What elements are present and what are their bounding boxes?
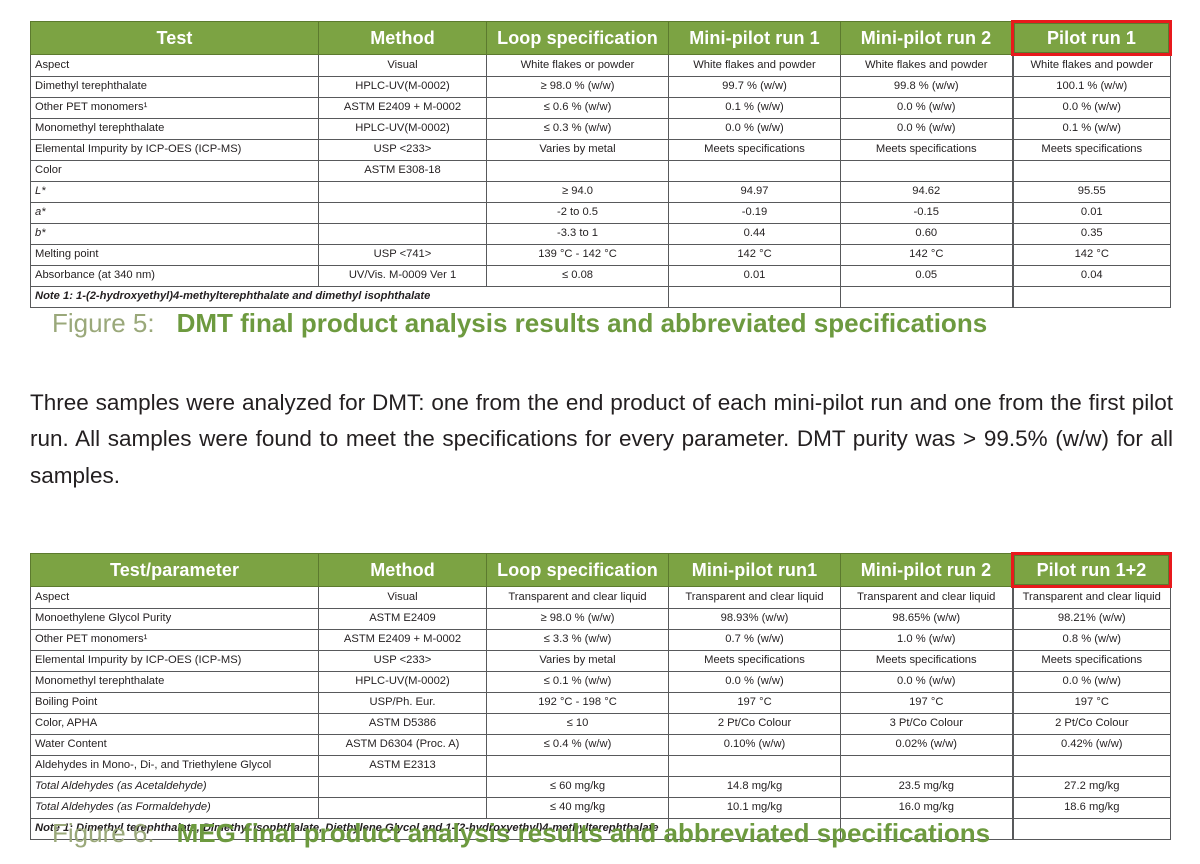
cell-mp2: Meets specifications [841,651,1013,672]
row-label: Color [31,161,319,182]
table-row: Monomethyl terephthalateHPLC-UV(M-0002)≤… [31,672,1171,693]
table-header-row: Test/parameterMethodLoop specificationMi… [31,554,1171,587]
cell-p1: Meets specifications [1013,140,1171,161]
cell-spec: 192 °C - 198 °C [487,693,669,714]
table-note-spacer [841,287,1013,308]
cell-mp2: White flakes and powder [841,55,1013,77]
cell-spec: -2 to 0.5 [487,203,669,224]
cell-p1: 2 Pt/Co Colour [1013,714,1171,735]
cell-mp1 [669,161,841,182]
row-label: Elemental Impurity by ICP-OES (ICP-MS) [31,140,319,161]
row-label: Color, APHA [31,714,319,735]
column-header-test-parameter: Test/parameter [31,554,319,587]
figure-6-number: Figure 6: [52,818,155,848]
column-header-mini-pilot-run1: Mini-pilot run1 [669,554,841,587]
cell-method: ASTM E2409 + M-0002 [319,98,487,119]
cell-method: USP <233> [319,140,487,161]
figure-5-title: DMT final product analysis results and a… [177,308,988,338]
cell-mp1: 0.7 % (w/w) [669,630,841,651]
cell-method [319,798,487,819]
cell-spec: -3.3 to 1 [487,224,669,245]
cell-method: Visual [319,55,487,77]
row-label: Aspect [31,587,319,609]
table-row: AspectVisualTransparent and clear liquid… [31,587,1171,609]
cell-mp1: White flakes and powder [669,55,841,77]
cell-spec [487,756,669,777]
table-row: ColorASTM E308-18 [31,161,1171,182]
cell-mp2: 0.0 % (w/w) [841,98,1013,119]
cell-mp1: Transparent and clear liquid [669,587,841,609]
row-label: L* [31,182,319,203]
cell-spec: ≥ 98.0 % (w/w) [487,609,669,630]
cell-mp1: 142 °C [669,245,841,266]
cell-mp1: 10.1 mg/kg [669,798,841,819]
table-row: b*-3.3 to 10.440.600.35 [31,224,1171,245]
row-label: Other PET monomers¹ [31,98,319,119]
cell-mp2: 1.0 % (w/w) [841,630,1013,651]
cell-p1: 0.1 % (w/w) [1013,119,1171,140]
table-note-spacer [1013,819,1171,840]
cell-p1: 0.01 [1013,203,1171,224]
row-label: Dimethyl terephthalate [31,77,319,98]
cell-p1: Transparent and clear liquid [1013,587,1171,609]
table-row: Monomethyl terephthalateHPLC-UV(M-0002)≤… [31,119,1171,140]
cell-mp2: 23.5 mg/kg [841,777,1013,798]
cell-mp1: -0.19 [669,203,841,224]
table-row: Elemental Impurity by ICP-OES (ICP-MS)US… [31,140,1171,161]
table-row: L*≥ 94.094.9794.6295.55 [31,182,1171,203]
meg-specification-table-container: Test/parameterMethodLoop specificationMi… [30,552,1170,840]
cell-spec: ≤ 10 [487,714,669,735]
cell-p1: Meets specifications [1013,651,1171,672]
table-row: Other PET monomers¹ASTM E2409 + M-0002≤ … [31,630,1171,651]
table-note-spacer [669,287,841,308]
cell-mp2: 142 °C [841,245,1013,266]
cell-spec: Varies by metal [487,140,669,161]
table-note-spacer [1013,287,1171,308]
row-label: Aldehydes in Mono-, Di-, and Triethylene… [31,756,319,777]
cell-mp1: 0.0 % (w/w) [669,119,841,140]
meg-specification-table: Test/parameterMethodLoop specificationMi… [30,552,1172,840]
cell-mp1: Meets specifications [669,140,841,161]
cell-spec: ≤ 0.1 % (w/w) [487,672,669,693]
cell-mp1: 0.01 [669,266,841,287]
cell-method [319,203,487,224]
column-header-pilot-run-1: Pilot run 1 [1013,22,1171,55]
table-footnote: Note 1: 1-(2-hydroxyethyl)4-methyltereph… [31,287,669,308]
cell-method: ASTM E2409 [319,609,487,630]
cell-p1: 0.8 % (w/w) [1013,630,1171,651]
cell-spec: ≥ 94.0 [487,182,669,203]
cell-method [319,182,487,203]
cell-mp1: 14.8 mg/kg [669,777,841,798]
row-label: a* [31,203,319,224]
cell-p1: White flakes and powder [1013,55,1171,77]
table-row: Absorbance (at 340 nm)UV/Vis. M-0009 Ver… [31,266,1171,287]
table-row: Boiling PointUSP/Ph. Eur.192 °C - 198 °C… [31,693,1171,714]
cell-p1: 0.0 % (w/w) [1013,98,1171,119]
table-body: AspectVisualWhite flakes or powderWhite … [31,55,1171,308]
cell-spec: Varies by metal [487,651,669,672]
column-header-mini-pilot-run-2: Mini-pilot run 2 [841,554,1013,587]
column-header-pilot-run-1-2: Pilot run 1+2 [1013,554,1171,587]
row-label: Total Aldehydes (as Formaldehyde) [31,798,319,819]
cell-spec: ≤ 60 mg/kg [487,777,669,798]
column-header-loop-specification: Loop specification [487,554,669,587]
cell-mp2: Meets specifications [841,140,1013,161]
table-row: AspectVisualWhite flakes or powderWhite … [31,55,1171,77]
figure-6-caption: Figure 6:MEG final product analysis resu… [52,818,990,849]
cell-mp1: 0.0 % (w/w) [669,672,841,693]
column-header-mini-pilot-run-2: Mini-pilot run 2 [841,22,1013,55]
cell-spec: ≥ 98.0 % (w/w) [487,77,669,98]
cell-mp1: 0.44 [669,224,841,245]
cell-mp1: 0.1 % (w/w) [669,98,841,119]
cell-p1: 142 °C [1013,245,1171,266]
cell-p1: 0.35 [1013,224,1171,245]
row-label: Melting point [31,245,319,266]
cell-mp2: 197 °C [841,693,1013,714]
row-label: Water Content [31,735,319,756]
cell-method [319,224,487,245]
cell-mp2: 99.8 % (w/w) [841,77,1013,98]
table-row: Monoethylene Glycol PurityASTM E2409≥ 98… [31,609,1171,630]
row-label: b* [31,224,319,245]
column-header-method: Method [319,22,487,55]
cell-p1: 0.04 [1013,266,1171,287]
table-row: Total Aldehydes (as Acetaldehyde)≤ 60 mg… [31,777,1171,798]
cell-mp2: 0.0 % (w/w) [841,119,1013,140]
cell-spec: ≤ 0.08 [487,266,669,287]
cell-mp1: 99.7 % (w/w) [669,77,841,98]
cell-mp2: 0.02% (w/w) [841,735,1013,756]
cell-p1: 197 °C [1013,693,1171,714]
cell-p1: 18.6 mg/kg [1013,798,1171,819]
row-label: Elemental Impurity by ICP-OES (ICP-MS) [31,651,319,672]
table-header-row: TestMethodLoop specificationMini-pilot r… [31,22,1171,55]
cell-mp1 [669,756,841,777]
cell-method [319,777,487,798]
cell-p1: 100.1 % (w/w) [1013,77,1171,98]
cell-spec: ≤ 40 mg/kg [487,798,669,819]
table-row: Other PET monomers¹ASTM E2409 + M-0002≤ … [31,98,1171,119]
table-row: Aldehydes in Mono-, Di-, and Triethylene… [31,756,1171,777]
cell-mp2: 16.0 mg/kg [841,798,1013,819]
table-row: Melting pointUSP <741>139 °C - 142 °C142… [31,245,1171,266]
cell-mp2: 94.62 [841,182,1013,203]
cell-spec: Transparent and clear liquid [487,587,669,609]
figure-5-number: Figure 5: [52,308,155,338]
cell-method: USP <741> [319,245,487,266]
column-header-mini-pilot-run-1: Mini-pilot run 1 [669,22,841,55]
row-label: Monomethyl terephthalate [31,119,319,140]
body-paragraph: Three samples were analyzed for DMT: one… [30,385,1173,494]
cell-mp1: 94.97 [669,182,841,203]
cell-method: HPLC-UV(M-0002) [319,672,487,693]
cell-p1 [1013,756,1171,777]
cell-method: UV/Vis. M-0009 Ver 1 [319,266,487,287]
cell-spec: ≤ 3.3 % (w/w) [487,630,669,651]
cell-mp2 [841,161,1013,182]
row-label: Monomethyl terephthalate [31,672,319,693]
cell-p1 [1013,161,1171,182]
cell-method: ASTM D6304 (Proc. A) [319,735,487,756]
row-label: Other PET monomers¹ [31,630,319,651]
cell-mp1: Meets specifications [669,651,841,672]
row-label: Absorbance (at 340 nm) [31,266,319,287]
column-header-test: Test [31,22,319,55]
cell-mp2: 3 Pt/Co Colour [841,714,1013,735]
cell-spec: ≤ 0.6 % (w/w) [487,98,669,119]
cell-mp2: 0.60 [841,224,1013,245]
cell-spec: White flakes or powder [487,55,669,77]
table-body: AspectVisualTransparent and clear liquid… [31,587,1171,840]
table-row: Elemental Impurity by ICP-OES (ICP-MS)US… [31,651,1171,672]
cell-mp1: 98.93% (w/w) [669,609,841,630]
cell-p1: 95.55 [1013,182,1171,203]
figure-5-caption: Figure 5:DMT final product analysis resu… [52,308,987,339]
cell-spec: 139 °C - 142 °C [487,245,669,266]
cell-mp1: 2 Pt/Co Colour [669,714,841,735]
cell-mp2 [841,756,1013,777]
cell-method: HPLC-UV(M-0002) [319,77,487,98]
table-row: Dimethyl terephthalateHPLC-UV(M-0002)≥ 9… [31,77,1171,98]
row-label: Total Aldehydes (as Acetaldehyde) [31,777,319,798]
cell-mp1: 0.10% (w/w) [669,735,841,756]
cell-method: USP <233> [319,651,487,672]
cell-p1: 0.0 % (w/w) [1013,672,1171,693]
document-page: TestMethodLoop specificationMini-pilot r… [0,0,1200,864]
column-header-method: Method [319,554,487,587]
cell-method: ASTM E2313 [319,756,487,777]
dmt-specification-table-container: TestMethodLoop specificationMini-pilot r… [30,20,1170,308]
table-row: Total Aldehydes (as Formaldehyde)≤ 40 mg… [31,798,1171,819]
cell-mp2: Transparent and clear liquid [841,587,1013,609]
cell-p1: 98.21% (w/w) [1013,609,1171,630]
cell-mp2: 0.05 [841,266,1013,287]
cell-method: USP/Ph. Eur. [319,693,487,714]
table-row: a*-2 to 0.5-0.19-0.150.01 [31,203,1171,224]
cell-p1: 0.42% (w/w) [1013,735,1171,756]
cell-p1: 27.2 mg/kg [1013,777,1171,798]
dmt-specification-table: TestMethodLoop specificationMini-pilot r… [30,20,1172,308]
table-note-row: Note 1: 1-(2-hydroxyethyl)4-methyltereph… [31,287,1171,308]
cell-method: ASTM E308-18 [319,161,487,182]
cell-spec [487,161,669,182]
cell-spec: ≤ 0.4 % (w/w) [487,735,669,756]
row-label: Aspect [31,55,319,77]
cell-method: Visual [319,587,487,609]
cell-method: HPLC-UV(M-0002) [319,119,487,140]
figure-6-title: MEG final product analysis results and a… [177,818,990,848]
row-label: Boiling Point [31,693,319,714]
cell-mp2: -0.15 [841,203,1013,224]
cell-method: ASTM D5386 [319,714,487,735]
cell-spec: ≤ 0.3 % (w/w) [487,119,669,140]
row-label: Monoethylene Glycol Purity [31,609,319,630]
table-row: Water ContentASTM D6304 (Proc. A)≤ 0.4 %… [31,735,1171,756]
cell-mp2: 0.0 % (w/w) [841,672,1013,693]
cell-method: ASTM E2409 + M-0002 [319,630,487,651]
table-row: Color, APHAASTM D5386≤ 102 Pt/Co Colour3… [31,714,1171,735]
cell-mp1: 197 °C [669,693,841,714]
column-header-loop-specification: Loop specification [487,22,669,55]
cell-mp2: 98.65% (w/w) [841,609,1013,630]
